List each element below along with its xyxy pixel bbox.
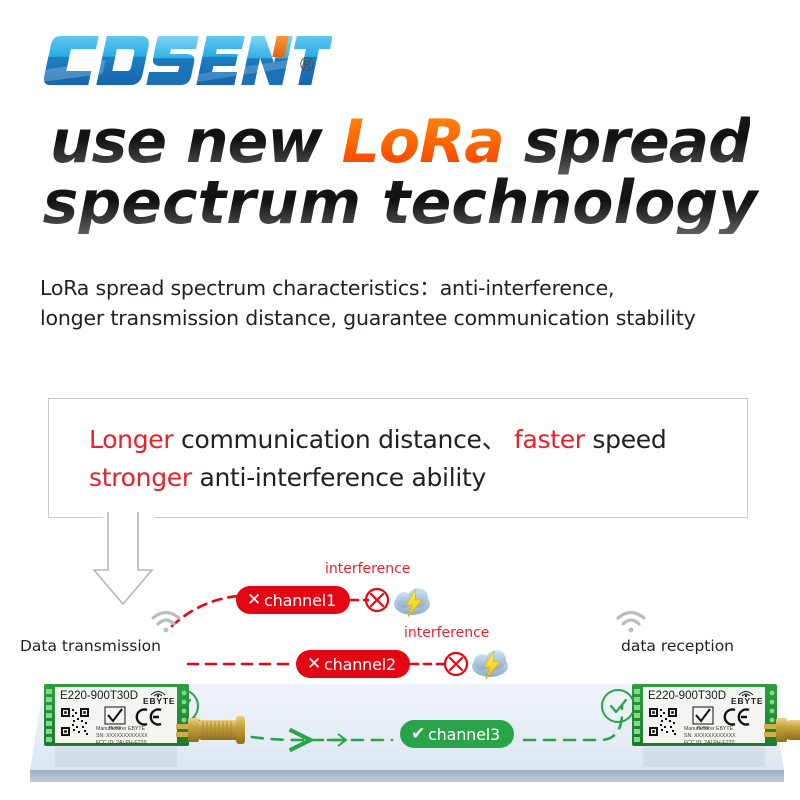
storm-cloud-lightning-icon — [472, 650, 508, 679]
module-left-manufacturer: Manufacturer EBYTE — [96, 726, 145, 732]
communication-diagram — [0, 0, 800, 800]
module-right-fcc: FCC ID: 2ALPH-E220 — [684, 740, 734, 746]
label-interference-2: interference — [404, 625, 489, 641]
label-data-transmission: Data transmission — [20, 637, 161, 655]
channel-badge-label: channel2 — [324, 655, 396, 674]
antenna-signal-icon — [146, 687, 170, 698]
channel-badge-label: channel3 — [428, 725, 500, 744]
qr-code-icon — [648, 707, 678, 737]
ce-mark-icon — [134, 708, 164, 726]
label-interference-1: interference — [325, 561, 410, 577]
channel-badge-channel3[interactable]: ✔ channel3 — [400, 720, 514, 748]
channel-badge-channel1[interactable]: ✕ channel1 — [236, 586, 350, 614]
module-right-model: E220-900T30D — [648, 690, 726, 702]
circle-x-icon — [445, 653, 467, 675]
module-right-sn: SN: XXXXXXXXXXXX — [684, 733, 736, 739]
label-data-reception: data reception — [621, 637, 734, 655]
check-mark-icon: ✔ — [411, 726, 425, 743]
storm-cloud-lightning-icon — [394, 588, 430, 617]
module-left-model: E220-900T30D — [60, 690, 138, 702]
x-mark-icon: ✕ — [247, 592, 261, 609]
poster-canvas: ® use new LoRa spread spectrum technolog… — [0, 0, 800, 800]
x-mark-icon: ✕ — [307, 656, 321, 673]
ce-mark-icon — [722, 708, 752, 726]
module-left-sn: SN: XXXXXXXXXXXX — [96, 733, 148, 739]
channel-badge-label: channel1 — [264, 591, 336, 610]
antenna-signal-icon — [734, 687, 758, 698]
qr-code-icon — [60, 707, 90, 737]
channel-badge-channel2[interactable]: ✕ channel2 — [296, 650, 410, 678]
module-right-manufacturer: Manufacturer EBYTE — [684, 726, 733, 732]
wifi-signal-icon — [618, 613, 644, 633]
module-left-fcc: FCC ID: 2ALPH-E220 — [96, 740, 146, 746]
